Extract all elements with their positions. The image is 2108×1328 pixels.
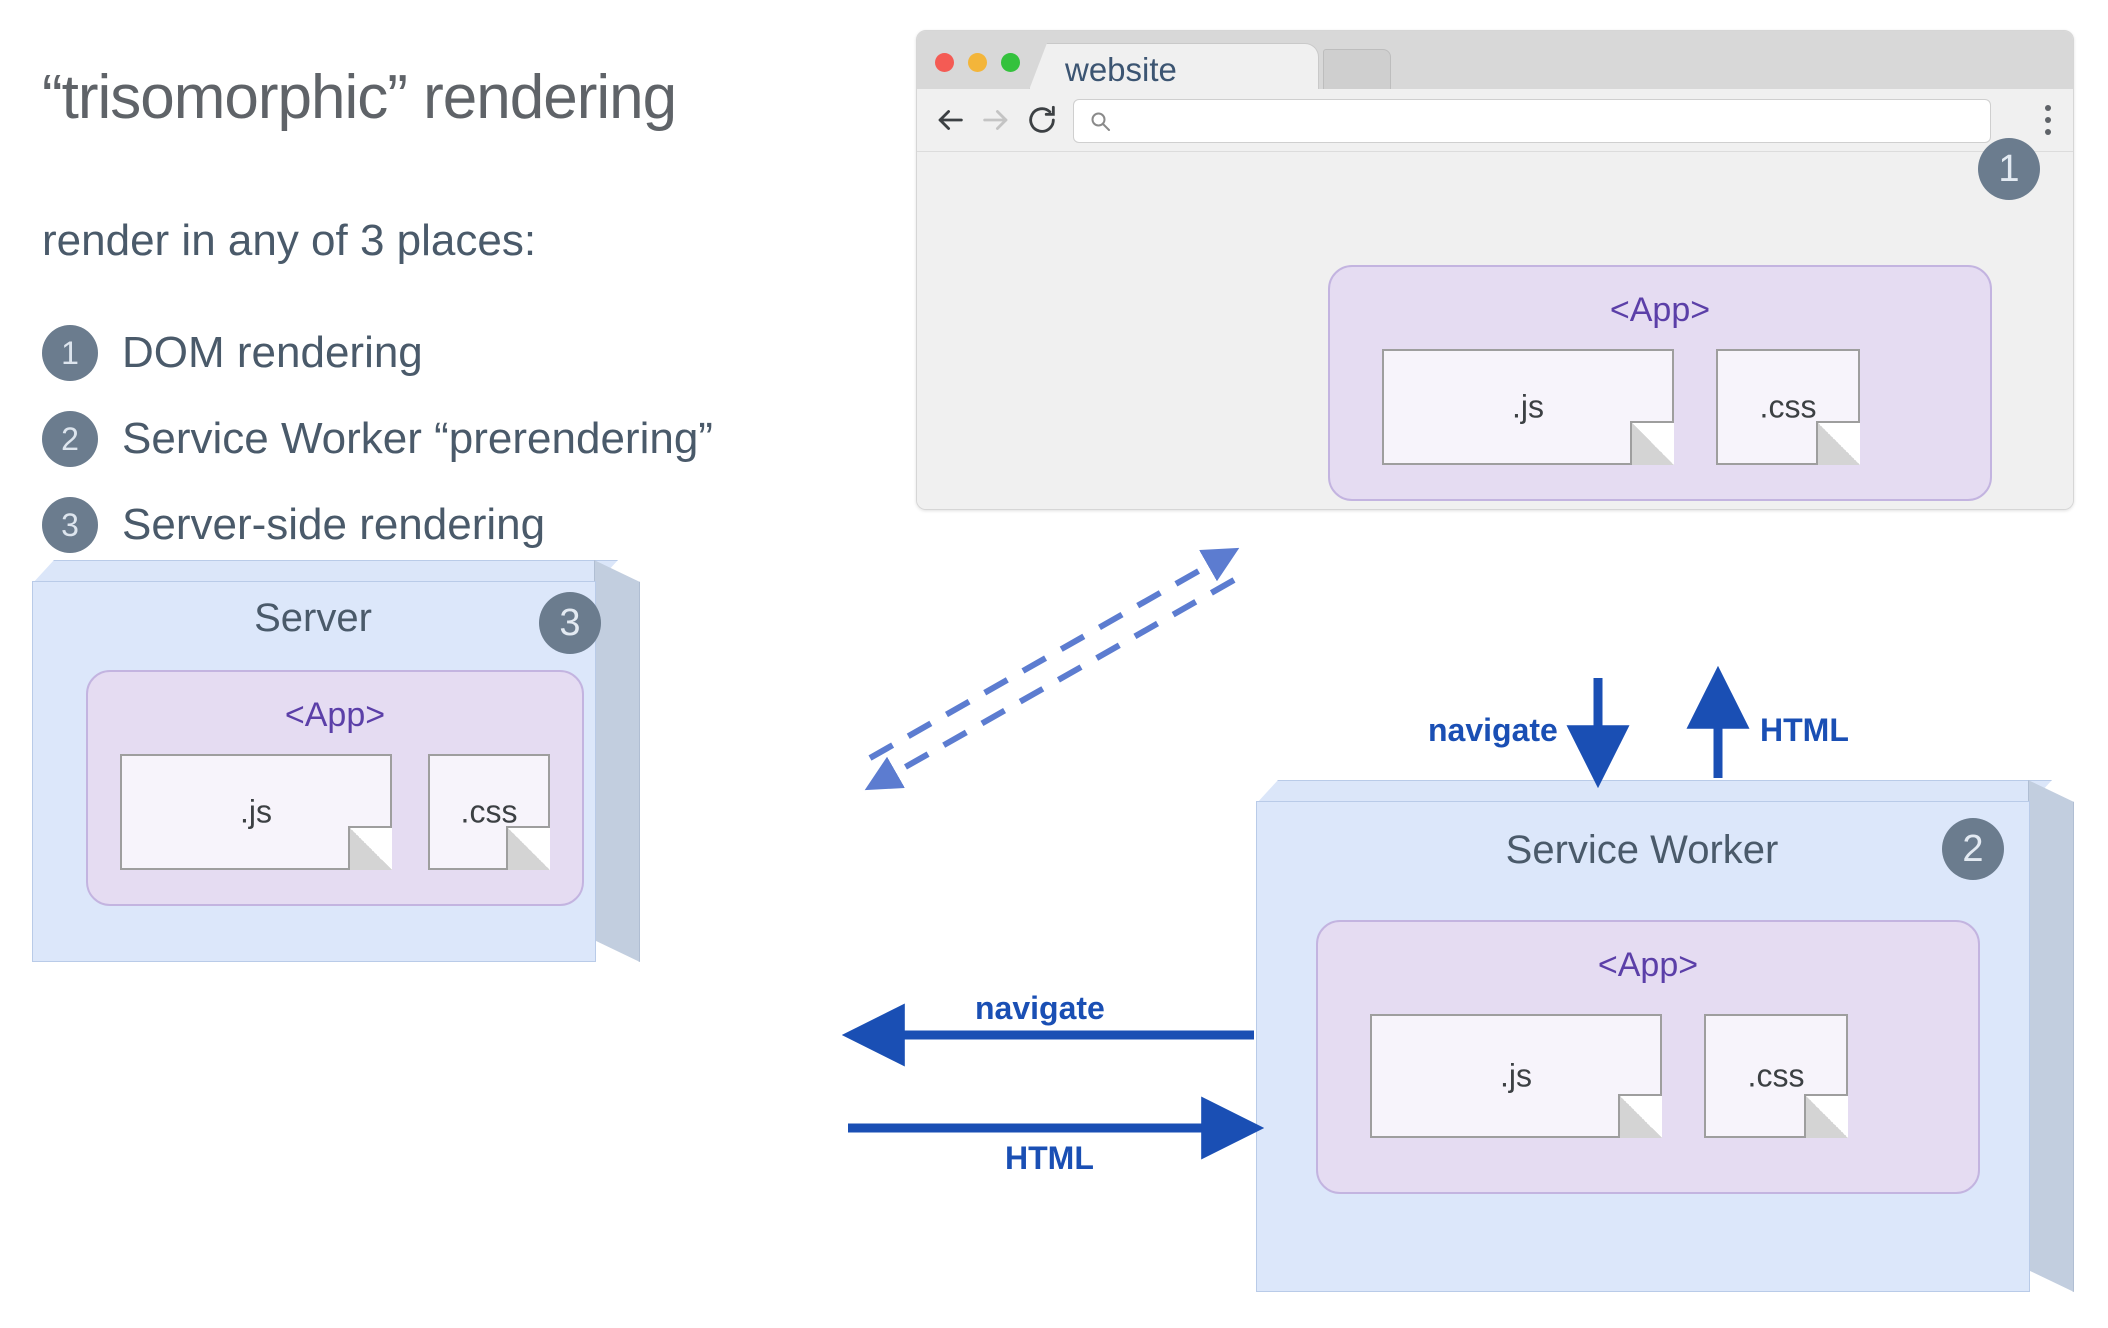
list-item-number-badge: 1 [42, 325, 98, 381]
server-title: Server [32, 596, 594, 641]
status-badge: 3 [539, 592, 601, 654]
file-name: .css [430, 794, 548, 831]
status-badge: 1 [1978, 138, 2040, 200]
file-name: .css [1706, 1058, 1846, 1095]
browser-tab-title: website [1065, 51, 1177, 89]
page-subtitle: render in any of 3 places: [42, 216, 536, 266]
dashed-arrow-to-server [872, 580, 1234, 786]
dashed-arrow-to-browser [870, 552, 1232, 758]
reload-icon[interactable] [1025, 103, 1059, 137]
page-title: “trisomorphic” rendering [42, 62, 676, 133]
list-item: 3 Server-side rendering [42, 482, 713, 568]
file-card-css: .css [1716, 349, 1860, 465]
file-name: .js [122, 794, 390, 831]
page-fold-icon [1630, 421, 1674, 465]
url-bar[interactable] [1073, 99, 1991, 143]
app-label: <App> [88, 696, 582, 735]
minimize-window-icon[interactable] [968, 53, 987, 72]
app-label: <App> [1330, 291, 1990, 330]
browser-tabstrip: website [917, 31, 2073, 90]
service-worker-title: Service Worker [1256, 828, 2028, 873]
arrow-label-html: HTML [1005, 1140, 1094, 1177]
browser-tab-inactive[interactable] [1323, 49, 1391, 91]
app-container-server: <App> .js .css [86, 670, 584, 906]
page-fold-icon [348, 826, 392, 870]
maximize-window-icon[interactable] [1001, 53, 1020, 72]
app-label: <App> [1318, 946, 1978, 985]
app-container-service-worker: <App> .js .css [1316, 920, 1980, 1194]
back-arrow-icon[interactable] [933, 103, 967, 137]
close-window-icon[interactable] [935, 53, 954, 72]
page-fold-icon [506, 826, 550, 870]
file-card-js: .js [1382, 349, 1674, 465]
status-badge: 2 [1942, 818, 2004, 880]
file-card-js: .js [1370, 1014, 1662, 1138]
arrow-label-navigate: navigate [1428, 712, 1558, 749]
list-item-label: Server-side rendering [122, 500, 545, 550]
list-item: 2 Service Worker “prerendering” [42, 396, 713, 482]
browser-toolbar [917, 89, 2073, 152]
file-card-css: .css [428, 754, 550, 870]
arrow-label-html: HTML [1760, 712, 1849, 749]
file-card-js: .js [120, 754, 392, 870]
list-item-label: DOM rendering [122, 328, 423, 378]
list-item: 1 DOM rendering [42, 310, 713, 396]
list-item-label: Service Worker “prerendering” [122, 414, 713, 464]
app-container-browser: <App> .js .css [1328, 265, 1992, 501]
file-card-css: .css [1704, 1014, 1848, 1138]
file-name: .js [1372, 1058, 1660, 1095]
kebab-menu-icon[interactable] [2045, 105, 2051, 135]
file-name: .js [1384, 389, 1672, 426]
list-item-number-badge: 3 [42, 497, 98, 553]
arrow-label-navigate: navigate [975, 990, 1105, 1027]
forward-arrow-icon [979, 103, 1013, 137]
page-fold-icon [1816, 421, 1860, 465]
page-fold-icon [1804, 1094, 1848, 1138]
render-places-list: 1 DOM rendering 2 Service Worker “preren… [42, 310, 713, 568]
list-item-number-badge: 2 [42, 411, 98, 467]
page-fold-icon [1618, 1094, 1662, 1138]
search-icon [1088, 109, 1112, 133]
file-name: .css [1718, 389, 1858, 426]
